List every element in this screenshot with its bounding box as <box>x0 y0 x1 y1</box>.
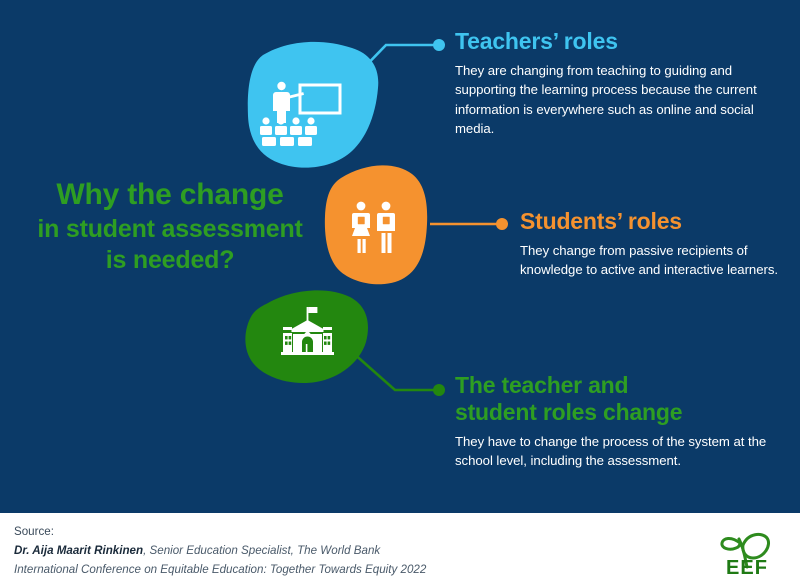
infographic-canvas: Why the change in student assessment is … <box>0 0 800 513</box>
heading-roles-line-2: student roles change <box>455 399 682 425</box>
heading-students: Students’ roles <box>520 208 785 235</box>
body-students: They change from passive recipients of k… <box>520 241 785 280</box>
connector-students <box>430 218 508 230</box>
page-title: Why the change in student assessment is … <box>12 178 328 275</box>
headline-line-1: Why the change <box>12 178 328 213</box>
source-author-title: , Senior Education Specialist, The World… <box>143 544 380 557</box>
headline-line-3: is needed? <box>12 246 328 275</box>
text-block-roles: The teacher and student roles change The… <box>455 372 785 471</box>
text-block-students: Students’ roles They change from passive… <box>520 208 785 280</box>
source-author-line: Dr. Aija Maarit Rinkinen, Senior Educati… <box>14 542 654 561</box>
logo-wordmark: EEF <box>716 557 778 580</box>
text-block-teachers: Teachers’ roles They are changing from t… <box>455 28 780 139</box>
source-event: International Conference on Equitable Ed… <box>14 561 654 580</box>
body-teachers: They are changing from teaching to guidi… <box>455 61 780 139</box>
heading-roles: The teacher and student roles change <box>455 372 785 426</box>
source-credit: Source: Dr. Aija Maarit Rinkinen, Senior… <box>14 523 654 579</box>
connector-roles <box>352 352 445 396</box>
source-author: Dr. Aija Maarit Rinkinen <box>14 544 143 557</box>
footer: Source: Dr. Aija Maarit Rinkinen, Senior… <box>0 513 800 580</box>
infographic-root: Why the change in student assessment is … <box>0 0 800 580</box>
blob-students <box>325 165 427 284</box>
heading-roles-line-1: The teacher and <box>455 372 628 398</box>
source-label: Source: <box>14 523 654 542</box>
blob-teachers <box>248 42 378 168</box>
heading-teachers: Teachers’ roles <box>455 28 780 55</box>
body-roles: They have to change the process of the s… <box>455 432 785 471</box>
headline-line-2: in student assessment <box>12 215 328 244</box>
